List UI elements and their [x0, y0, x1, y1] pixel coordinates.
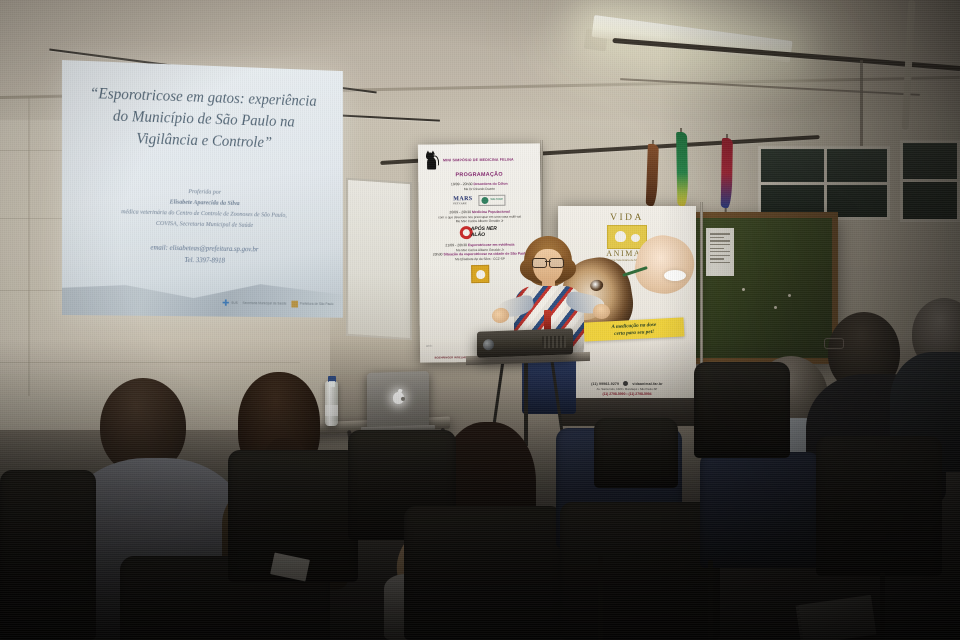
alemao-sponsor-logo: APÓS NER ALÃO [460, 226, 500, 239]
whiteboard [346, 178, 412, 341]
cat-silhouette-icon [425, 151, 439, 169]
mars-logo: MARS PETCARE [453, 196, 472, 205]
secretaria-logo-label: Secretaria Municipal da Saúde [243, 302, 287, 306]
program-item-0-speaker: Me Dr Ricardo Duarte [422, 186, 536, 192]
program-item-1-topic: Medicina Populacional [472, 210, 510, 214]
waltham-logo-label: WALTHAM [491, 199, 503, 202]
banner-sponsor-row: MARS PETCARE WALTHAM [418, 194, 540, 206]
banner-header: MINI SIMPÓSIO DE MEDICINA FELINA [418, 143, 540, 169]
prefeitura-sp-logo: Prefeitura de São Paulo [291, 300, 333, 309]
projection-screen: “Esporotricose em gatos: experiência do … [62, 60, 343, 318]
eyeglasses-icon [532, 258, 564, 266]
sus-logo: ✚ SUS [222, 299, 238, 308]
alemao-logo-label: APÓS NER ALÃO [471, 227, 500, 238]
gold-seal-logo [471, 265, 489, 283]
program-item-0-time: 19/09 - 20h30 [451, 182, 473, 186]
secretaria-saude-logo: Secretaria Municipal da Saúde [243, 299, 287, 308]
mars-logo-sub: PETCARE [453, 202, 472, 205]
program-item-2-time: 21/09 - 20h30 [445, 244, 467, 248]
slide-contact: email: elisabeteas@prefeitura.sp.gov.br … [76, 242, 330, 268]
waltham-mark-icon [482, 197, 489, 204]
program-item-3-time: 20h30 [433, 253, 443, 257]
banner-section-title: PROGRAMAÇÃO [418, 171, 540, 178]
program-item-0-topic: Desordens do Cólon [473, 182, 507, 186]
scene-shadow-bottom [0, 340, 960, 640]
slide-footer-logos: ✚ SUS Secretaria Municipal da Saúde Pref… [222, 299, 333, 309]
banner-event-title: MINI SIMPÓSIO DE MEDICINA FELINA [443, 157, 514, 162]
health-cross-icon: ✚ [222, 299, 229, 308]
banner-program-item: 20/09 - 20h30 Medicina Populacional com … [419, 209, 541, 224]
prefeitura-mark-icon [291, 301, 298, 308]
prefeitura-logo-label: Prefeitura de São Paulo [300, 303, 334, 307]
photograph-scene: “Esporotricose em gatos: experiência do … [0, 0, 960, 640]
slide-byline: Proferida por Elisabete Aparecida da Sil… [76, 184, 330, 232]
seal-glyph-icon [476, 270, 485, 279]
program-item-1-time: 20/09 - 20h30 [449, 210, 471, 214]
sus-logo-label: SUS [231, 302, 238, 305]
slide-content: “Esporotricose em gatos: experiência do … [62, 60, 343, 318]
waltham-logo: WALTHAM [479, 195, 506, 206]
presenter-lanyard-badge [544, 310, 551, 330]
banner-program-item: 19/09 - 20h30 Desordens do Cólon Me Dr R… [418, 181, 540, 191]
